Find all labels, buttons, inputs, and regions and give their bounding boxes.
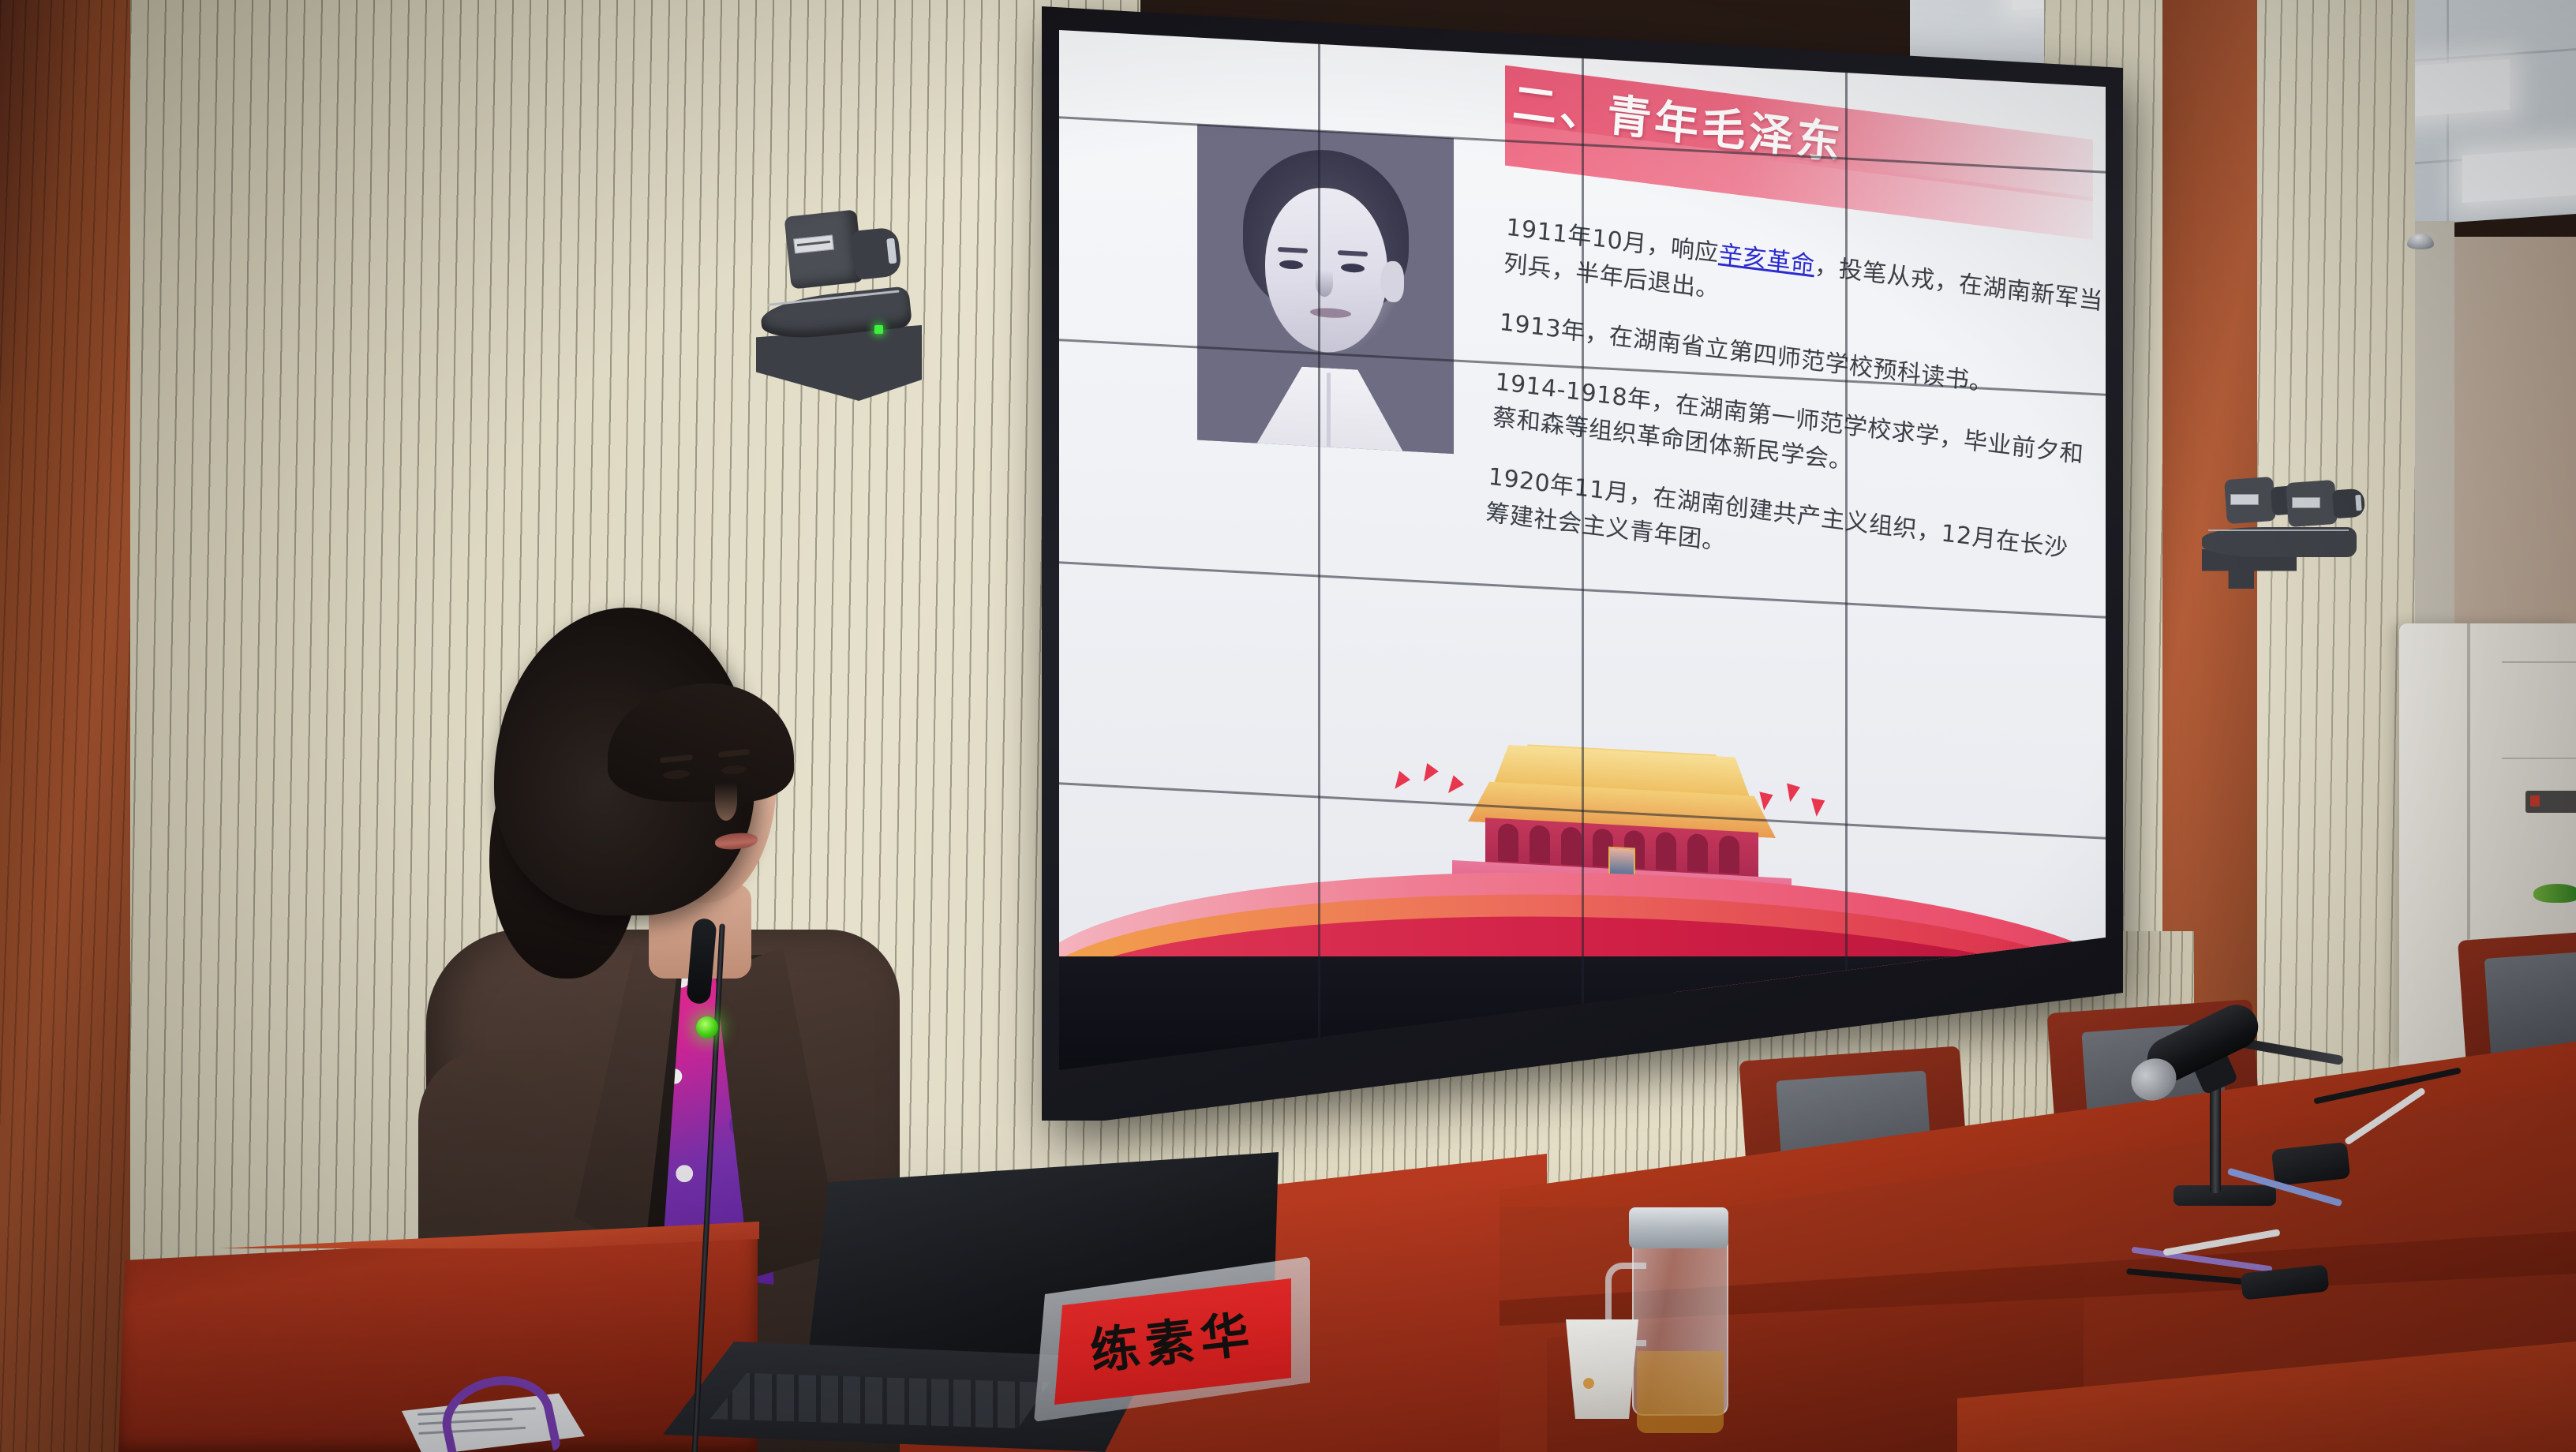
- camera-lens-icon: [852, 226, 902, 280]
- videowall-seam: [1845, 24, 1848, 1097]
- mic-stand-base: [2173, 1185, 2276, 1206]
- ac-display-panel: [2525, 791, 2576, 813]
- ptz-camera-pair: [2199, 470, 2364, 597]
- videowall-seam: [1582, 24, 1584, 1097]
- glass-tea-tumbler[interactable]: [1632, 1207, 1725, 1413]
- videowall-seam: [1318, 24, 1320, 1097]
- mic-status-led: [696, 1016, 718, 1038]
- ceiling-light-panel: [2462, 141, 2576, 203]
- brand-logo-icon: [2533, 884, 2576, 903]
- nameplate-text: 练素华: [1086, 1293, 1259, 1383]
- wall-panel-orange-left: [0, 0, 142, 1452]
- ptz-camera: [742, 207, 931, 404]
- laptop-keyboard[interactable]: [710, 1373, 1050, 1428]
- portrait-photo-young-mao: [1197, 124, 1454, 454]
- mic-capsule-icon: [686, 918, 717, 1005]
- conference-room-photo: 二、青年毛泽东 1911年10月，响应辛亥革命，投笔从戎，在湖南新军当列兵，半年…: [0, 0, 2576, 1452]
- camera-status-led: [874, 325, 883, 334]
- slide-hyperlink[interactable]: 辛亥革命: [1718, 240, 1816, 279]
- slide-body-text: 1911年10月，响应辛亥革命，投笔从戎，在湖南新军当列兵，半年后退出。 191…: [1483, 210, 2106, 629]
- tumbler-lid[interactable]: [1629, 1207, 1728, 1248]
- mic-stand-stem: [2210, 1075, 2221, 1193]
- dome-security-camera: [2407, 234, 2434, 249]
- gooseneck-microphone[interactable]: [679, 923, 750, 1452]
- video-wall-display[interactable]: 二、青年毛泽东 1911年10月，响应辛亥革命，投笔从戎，在湖南新军当列兵，半年…: [1042, 0, 2123, 1121]
- display-screen[interactable]: 二、青年毛泽东 1911年10月，响应辛亥革命，投笔从戎，在湖南新军当列兵，半年…: [1059, 24, 2106, 1097]
